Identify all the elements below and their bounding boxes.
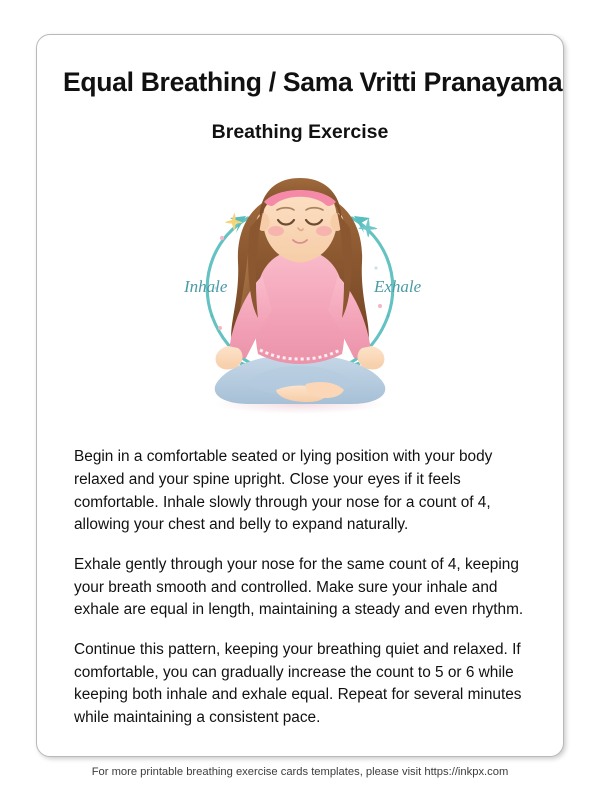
breathing-exercise-card: Equal Breathing / Sama Vritti Pranayama … (36, 34, 564, 757)
inhale-label: Inhale (183, 277, 228, 296)
instruction-paragraph-3: Continue this pattern, keeping your brea… (74, 639, 526, 730)
illustration-container: Inhale Exhale (63, 158, 537, 428)
printable-breathing-card-page: Equal Breathing / Sama Vritti Pranayama … (0, 0, 600, 800)
instructions-text: Begin in a comfortable seated or lying p… (63, 446, 537, 729)
exhale-label: Exhale (373, 277, 422, 296)
page-title: Equal Breathing / Sama Vritti Pranayama (63, 67, 537, 97)
cheek-right (316, 226, 332, 236)
meditating-woman-illustration: Inhale Exhale (150, 158, 450, 428)
instruction-paragraph-2: Exhale gently through your nose for the … (74, 554, 526, 622)
card-content: Equal Breathing / Sama Vritti Pranayama … (37, 35, 563, 756)
cheek-left (268, 226, 284, 236)
page-subtitle: Breathing Exercise (63, 121, 537, 144)
sparkle-yellow-icon (225, 214, 242, 231)
footer-attribution: For more printable breathing exercise ca… (0, 766, 600, 778)
instruction-paragraph-1: Begin in a comfortable seated or lying p… (74, 446, 526, 537)
